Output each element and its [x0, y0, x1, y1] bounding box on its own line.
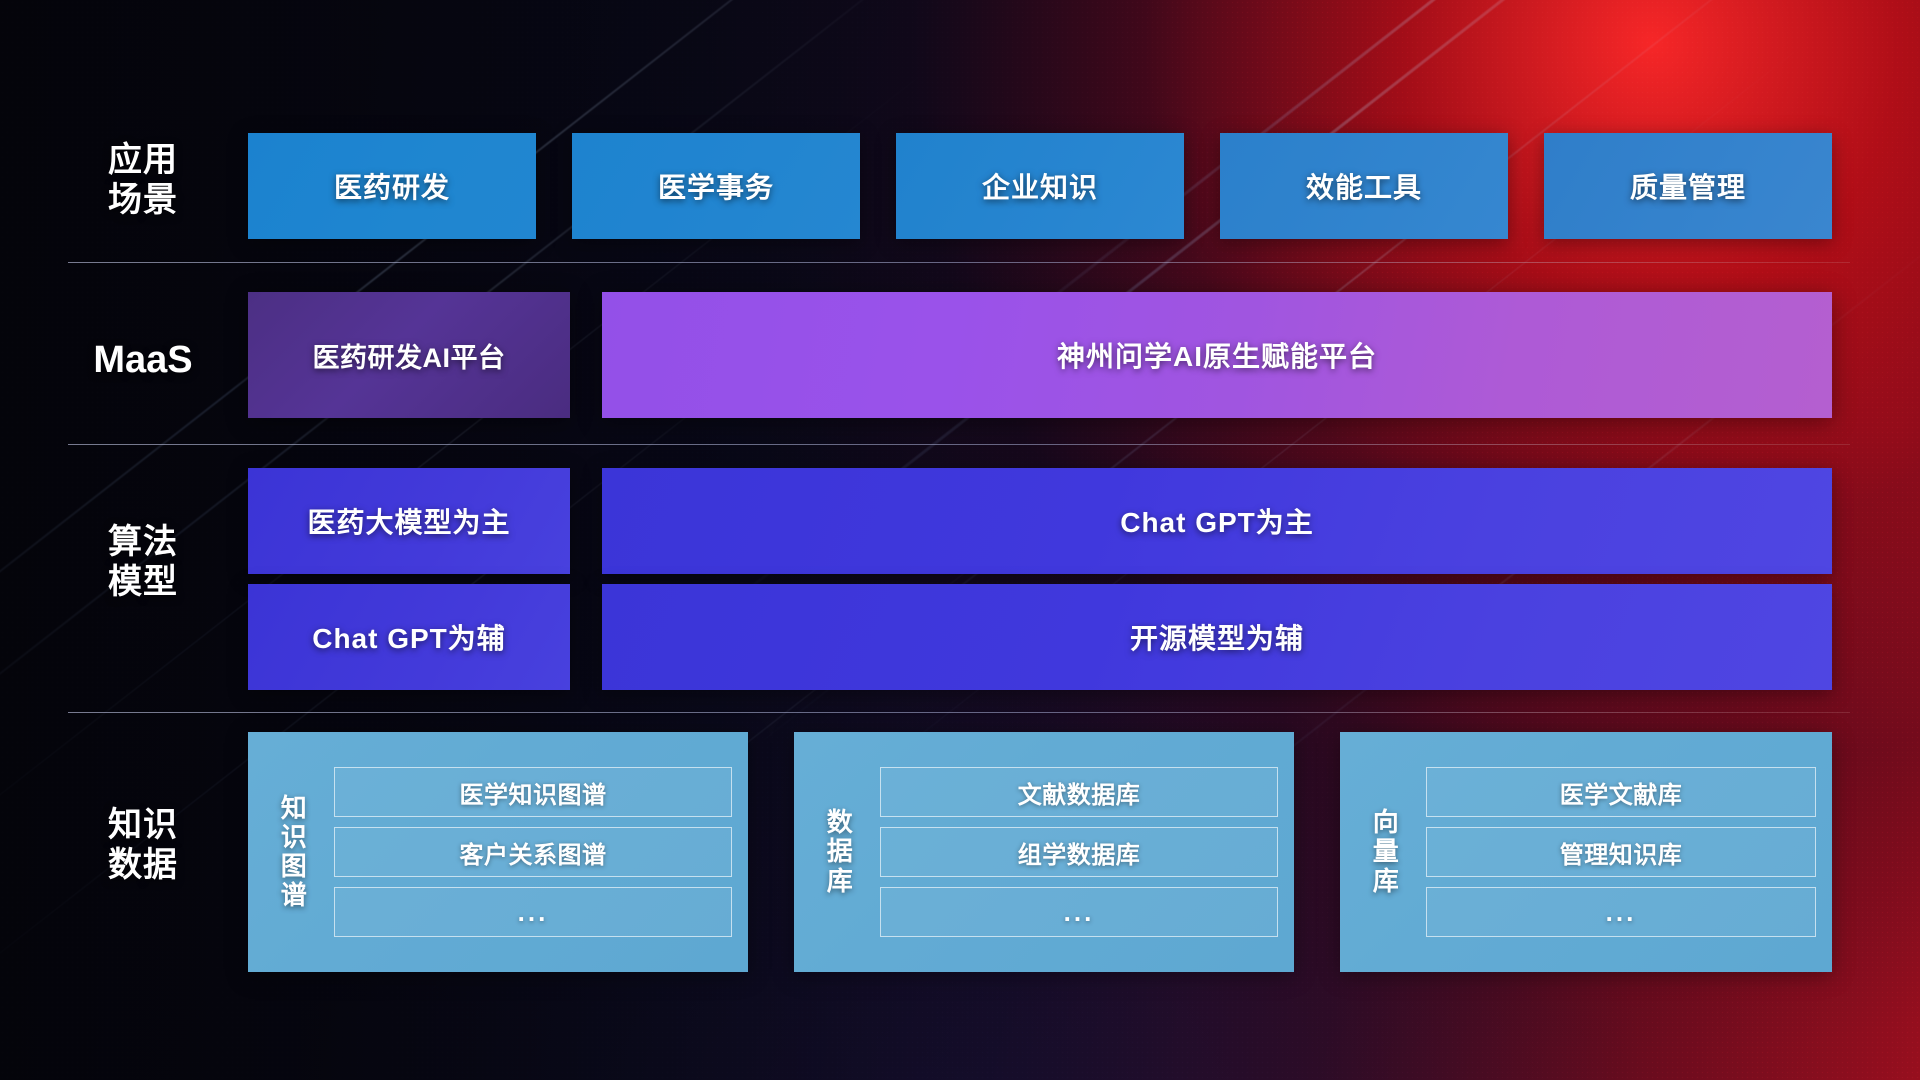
- maas-box-shenzhou-wenxue-platform[interactable]: 神州问学AI原生赋能平台: [602, 292, 1832, 418]
- tier-label-line1: 算法: [68, 522, 218, 562]
- knowledge-item-more[interactable]: ...: [880, 887, 1278, 937]
- tier-label-maas: MaaS: [68, 338, 218, 383]
- knowledge-card-item-list: 文献数据库 组学数据库 ...: [872, 767, 1278, 937]
- app-scenario-box-1[interactable]: 医药研发: [248, 133, 536, 239]
- algo-box-label: 医药大模型为主: [307, 501, 510, 541]
- maas-box-label: 神州问学AI原生赋能平台: [1057, 335, 1377, 375]
- knowledge-card-knowledge-graph[interactable]: 知识图谱 医学知识图谱 客户关系图谱 ...: [248, 732, 748, 972]
- knowledge-card-title: 知识图谱: [262, 794, 326, 910]
- app-scenario-label: 医药研发: [334, 166, 450, 206]
- knowledge-item[interactable]: 组学数据库: [880, 827, 1278, 877]
- app-scenario-label: 效能工具: [1306, 166, 1422, 206]
- algo-box-row2-right[interactable]: 开源模型为辅: [602, 584, 1832, 690]
- app-scenario-label: 质量管理: [1630, 166, 1746, 206]
- algo-box-label: 开源模型为辅: [1130, 617, 1304, 657]
- knowledge-card-item-list: 医学知识图谱 客户关系图谱 ...: [326, 767, 732, 937]
- diagram-canvas: 应用 场景 医药研发 医学事务 企业知识 效能工具 质量管理 MaaS 医药研发…: [0, 0, 1920, 1080]
- knowledge-card-database[interactable]: 数据库 文献数据库 组学数据库 ...: [794, 732, 1294, 972]
- knowledge-card-title: 数据库: [808, 808, 872, 895]
- algo-box-label: Chat GPT为辅: [312, 617, 506, 657]
- tier-label-line2: 模型: [68, 562, 218, 602]
- tier-label-application-scenarios: 应用 场景: [68, 140, 218, 220]
- app-scenario-box-5[interactable]: 质量管理: [1544, 133, 1832, 239]
- tier-label-knowledge-data: 知识 数据: [68, 805, 218, 885]
- knowledge-item[interactable]: 客户关系图谱: [334, 827, 732, 877]
- tier-label-line2: 场景: [68, 180, 218, 220]
- divider-2: [68, 444, 1850, 445]
- algo-box-row1-right[interactable]: Chat GPT为主: [602, 468, 1832, 574]
- knowledge-item[interactable]: 医学文献库: [1426, 767, 1816, 817]
- knowledge-item-more[interactable]: ...: [334, 887, 732, 937]
- algo-box-row2-left[interactable]: Chat GPT为辅: [248, 584, 570, 690]
- knowledge-item[interactable]: 文献数据库: [880, 767, 1278, 817]
- knowledge-item[interactable]: 医学知识图谱: [334, 767, 732, 817]
- knowledge-card-title: 向量库: [1354, 808, 1418, 895]
- tier-label-line1: 知识: [68, 805, 218, 845]
- tier-label-text: MaaS: [68, 338, 218, 383]
- app-scenario-box-2[interactable]: 医学事务: [572, 133, 860, 239]
- app-scenario-label: 企业知识: [982, 166, 1098, 206]
- algo-box-label: Chat GPT为主: [1120, 501, 1314, 541]
- knowledge-item[interactable]: 管理知识库: [1426, 827, 1816, 877]
- knowledge-item-more[interactable]: ...: [1426, 887, 1816, 937]
- maas-box-pharma-ai-platform[interactable]: 医药研发AI平台: [248, 292, 570, 418]
- algo-box-row1-left[interactable]: 医药大模型为主: [248, 468, 570, 574]
- divider-3: [68, 712, 1850, 713]
- tier-label-line2: 数据: [68, 845, 218, 885]
- app-scenario-label: 医学事务: [658, 166, 774, 206]
- knowledge-card-vector-store[interactable]: 向量库 医学文献库 管理知识库 ...: [1340, 732, 1832, 972]
- maas-box-label: 医药研发AI平台: [313, 336, 506, 375]
- app-scenario-box-4[interactable]: 效能工具: [1220, 133, 1508, 239]
- tier-label-line1: 应用: [68, 140, 218, 180]
- tier-label-algorithm-model: 算法 模型: [68, 522, 218, 602]
- app-scenario-box-3[interactable]: 企业知识: [896, 133, 1184, 239]
- knowledge-card-item-list: 医学文献库 管理知识库 ...: [1418, 767, 1816, 937]
- divider-1: [68, 262, 1850, 263]
